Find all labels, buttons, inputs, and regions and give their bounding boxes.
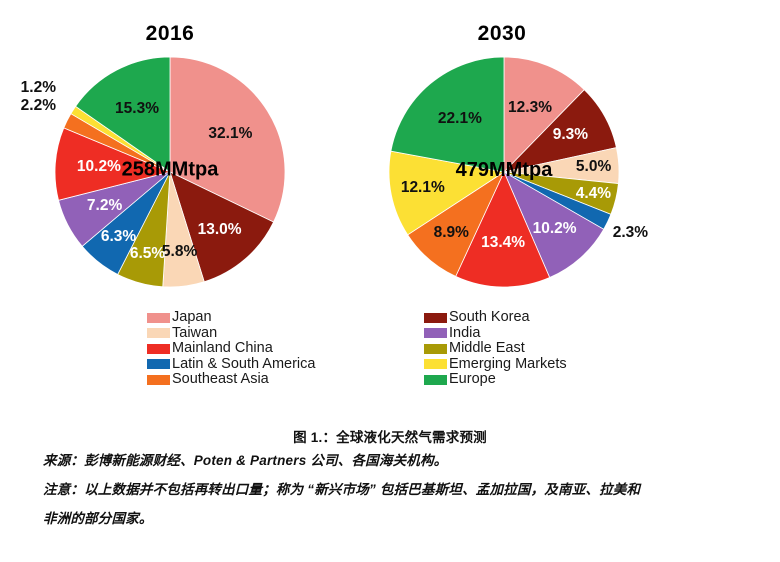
chart-legend: JapanTaiwanMainland ChinaLatin & South A…: [0, 310, 780, 395]
legend-item[interactable]: Mainland China: [147, 341, 315, 357]
legend-color-swatch: [424, 344, 447, 354]
legend-item[interactable]: Southeast Asia: [147, 372, 315, 388]
legend-item[interactable]: Europe: [424, 372, 567, 388]
legend-item[interactable]: Latin & South America: [147, 357, 315, 373]
legend-color-swatch: [424, 359, 447, 369]
legend-label: Emerging Markets: [449, 357, 567, 373]
pie-svg-2030: [388, 56, 620, 288]
legend-item[interactable]: Middle East: [424, 341, 567, 357]
footnote-line-2: 非洲的部分国家。: [0, 504, 780, 533]
pie-chart-2030: 2030 479MMtpa 12.3%9.3%5.0%4.4%2.3%10.2%…: [365, 0, 695, 300]
pie-svg-2016: [54, 56, 286, 288]
legend-color-swatch: [147, 313, 170, 323]
legend-column-right: South KoreaIndiaMiddle EastEmerging Mark…: [424, 310, 567, 388]
legend-item[interactable]: Japan: [147, 310, 315, 326]
legend-label: Taiwan: [172, 326, 217, 342]
pie-title-2030: 2030: [337, 22, 667, 46]
legend-label: Japan: [172, 310, 212, 326]
pie-charts-area: 2016 258MMtpa 32.1%13.0%5.8%6.5%6.3%7.2%…: [0, 0, 780, 305]
legend-color-swatch: [424, 375, 447, 385]
legend-column-left: JapanTaiwanMainland ChinaLatin & South A…: [147, 310, 315, 388]
pie-chart-2016: 2016 258MMtpa 32.1%13.0%5.8%6.5%6.3%7.2%…: [25, 0, 355, 300]
pie-slice-label: 1.2%: [21, 79, 56, 97]
figure-caption: 图 1.：全球液化天然气需求预测: [0, 426, 780, 446]
legend-color-swatch: [424, 313, 447, 323]
legend-label: Latin & South America: [172, 357, 315, 373]
pie-graphic-2030: 479MMtpa 12.3%9.3%5.0%4.4%2.3%10.2%13.4%…: [388, 56, 620, 288]
legend-item[interactable]: South Korea: [424, 310, 567, 326]
legend-color-swatch: [147, 344, 170, 354]
pie-title-2016: 2016: [5, 22, 335, 46]
caption-block: 图 1.：全球液化天然气需求预测 来源：彭博新能源财经、Poten & Part…: [0, 420, 780, 533]
legend-color-swatch: [424, 328, 447, 338]
legend-label: India: [449, 326, 480, 342]
footnote-line-1: 注意：以上数据并不包括再转出口量；称为 “新兴市场” 包括巴基斯坦、孟加拉国，及…: [0, 475, 780, 504]
legend-label: Europe: [449, 372, 496, 388]
legend-label: Middle East: [449, 341, 525, 357]
pie-slice-label: 2.2%: [21, 97, 56, 115]
legend-color-swatch: [147, 359, 170, 369]
source-note: 来源：彭博新能源财经、Poten & Partners 公司、各国海关机构。: [0, 446, 780, 475]
legend-item[interactable]: Taiwan: [147, 326, 315, 342]
pie-graphic-2016: 258MMtpa 32.1%13.0%5.8%6.5%6.3%7.2%10.2%…: [54, 56, 286, 288]
legend-color-swatch: [147, 375, 170, 385]
legend-item[interactable]: India: [424, 326, 567, 342]
legend-label: South Korea: [449, 310, 530, 326]
legend-color-swatch: [147, 328, 170, 338]
figure-container: 2016 258MMtpa 32.1%13.0%5.8%6.5%6.3%7.2%…: [0, 0, 780, 562]
legend-label: Mainland China: [172, 341, 273, 357]
legend-label: Southeast Asia: [172, 372, 269, 388]
legend-item[interactable]: Emerging Markets: [424, 357, 567, 373]
